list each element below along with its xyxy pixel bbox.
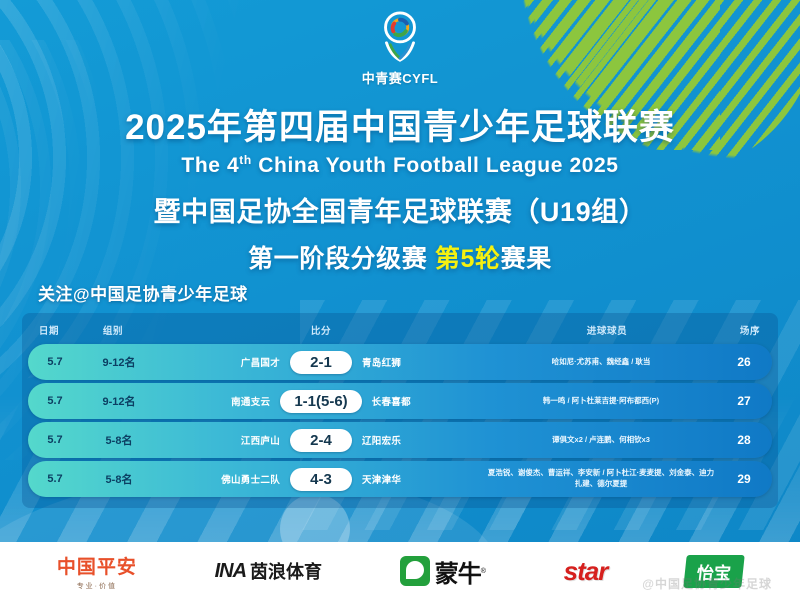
cell-date: 5.7	[28, 473, 82, 485]
cell-group: 9-12名	[82, 393, 156, 409]
page-title-english: The 4th China Youth Football League 2025	[0, 153, 800, 178]
poster-root: 中青赛CYFL 2025年第四届中国青少年足球联赛 The 4th China …	[0, 0, 800, 600]
score-badge: 2-4	[290, 429, 352, 452]
score-badge: 1-1(5-6)	[280, 390, 361, 413]
sponsor-ina-mark: INA	[215, 560, 246, 583]
away-team-name: 青岛红狮	[362, 355, 436, 369]
title-en-ordinal: th	[239, 153, 252, 167]
sponsor-mengniu: 蒙牛®	[400, 554, 486, 589]
cell-date: 5.7	[28, 434, 82, 446]
logo-wordmark: 中青赛CYFL	[362, 68, 438, 87]
sponsor-pingan: 中国平安 专业·价值	[57, 552, 137, 591]
column-header-date: 日期	[22, 323, 76, 337]
score-badge: 4-3	[290, 468, 352, 491]
table-row[interactable]: 5.7 9-12名 南通支云 1-1(5-6) 长春喜都 韩一鸣 / 阿卜杜莱吉…	[28, 383, 772, 419]
column-header-group: 组别	[76, 323, 150, 337]
cyfl-emblem-icon	[371, 10, 429, 66]
table-row[interactable]: 5.7 5-8名 江西庐山 2-4 辽阳宏乐 谭俱文x2 / 卢连鹏、何相钦x3…	[28, 422, 772, 458]
cell-group: 5-8名	[82, 471, 156, 487]
cell-scorers: 谭俱文x2 / 卢连鹏、何相钦x3	[486, 435, 716, 446]
cell-match: 佛山勇士二队 4-3 天津津华	[156, 468, 486, 491]
sponsor-yibao: 怡宝	[685, 555, 743, 588]
page-title: 2025年第四届中国青少年足球联赛	[0, 108, 800, 147]
subtitle-stage: 第一阶段分级赛	[248, 245, 427, 273]
cell-scorers: 夏浩锐、谢俊杰、曹运祥、李安新 / 阿卜杜江·麦麦提、刘金泰、迪力扎建、德尔夏提	[486, 468, 716, 490]
cell-date: 5.7	[28, 395, 82, 407]
sponsor-star: star	[564, 556, 608, 587]
sponsor-ina-name: 茵浪体育	[250, 558, 322, 584]
table-row[interactable]: 5.7 5-8名 佛山勇士二队 4-3 天津津华 夏浩锐、谢俊杰、曹运祥、李安新…	[28, 461, 772, 497]
home-team-name: 南通支云	[196, 394, 270, 408]
sponsor-bar: 中国平安 专业·价值 INA 茵浪体育 蒙牛® star 怡宝	[0, 542, 800, 600]
cell-scorers: 韩一鸣 / 阿卜杜莱吉提·阿布都西(P)	[486, 396, 716, 407]
title-block: 2025年第四届中国青少年足球联赛 The 4th China Youth Fo…	[0, 108, 800, 275]
sponsor-ina: INA 茵浪体育	[215, 558, 322, 584]
cell-group: 5-8名	[82, 432, 156, 448]
away-team-name: 辽阳宏乐	[362, 433, 436, 447]
column-header-score: 比分	[150, 323, 492, 337]
page-subtitle-primary: 暨中国足协全国青年足球联赛（U19组）	[0, 190, 800, 229]
cell-match-order: 27	[716, 394, 772, 408]
cell-match-order: 29	[716, 472, 772, 486]
column-header-order: 场序	[722, 323, 778, 337]
page-subtitle-secondary: 第一阶段分级赛 第5轮赛果	[0, 239, 800, 275]
follow-handle: 关注@中国足协青少年足球	[38, 280, 248, 305]
home-team-name: 江西庐山	[206, 433, 280, 447]
subtitle-round-highlight: 第5轮	[435, 245, 501, 273]
title-en-prefix: The 4	[181, 154, 239, 177]
cell-match-order: 28	[716, 433, 772, 447]
cell-match: 广昌国才 2-1 青岛红狮	[156, 351, 486, 374]
table-row[interactable]: 5.7 9-12名 广昌国才 2-1 青岛红狮 哈如尼·尤苏甫、魏经鑫 / 耿当…	[28, 344, 772, 380]
table-header-row: 日期 组别 比分 进球球员 场序	[22, 319, 778, 341]
home-team-name: 佛山勇士二队	[206, 472, 280, 486]
sponsor-yibao-name: 怡宝	[683, 555, 744, 588]
sponsor-star-name: star	[564, 556, 608, 587]
score-badge: 2-1	[290, 351, 352, 374]
registered-mark: ®	[481, 568, 486, 575]
subtitle-result: 赛果	[501, 245, 552, 273]
league-logo: 中青赛CYFL	[0, 10, 800, 87]
title-en-suffix: China Youth Football League 2025	[258, 154, 618, 177]
column-header-scorers: 进球球员	[492, 323, 722, 337]
cell-match: 南通支云 1-1(5-6) 长春喜都	[156, 390, 486, 413]
away-team-name: 天津津华	[362, 472, 436, 486]
sponsor-pingan-name: 中国平安	[57, 552, 137, 579]
cell-scorers: 哈如尼·尤苏甫、魏经鑫 / 耿当	[486, 357, 716, 368]
cell-match-order: 26	[716, 355, 772, 369]
sponsor-mengniu-name: 蒙牛	[435, 554, 481, 589]
cell-group: 9-12名	[82, 354, 156, 370]
mengniu-leaf-icon	[400, 556, 430, 586]
results-table: 日期 组别 比分 进球球员 场序 5.7 9-12名 广昌国才 2-1 青岛红狮…	[22, 313, 778, 508]
away-team-name: 长春喜都	[372, 394, 446, 408]
sponsor-pingan-tagline: 专业·价值	[77, 581, 117, 591]
cell-date: 5.7	[28, 356, 82, 368]
home-team-name: 广昌国才	[206, 355, 280, 369]
cell-match: 江西庐山 2-4 辽阳宏乐	[156, 429, 486, 452]
